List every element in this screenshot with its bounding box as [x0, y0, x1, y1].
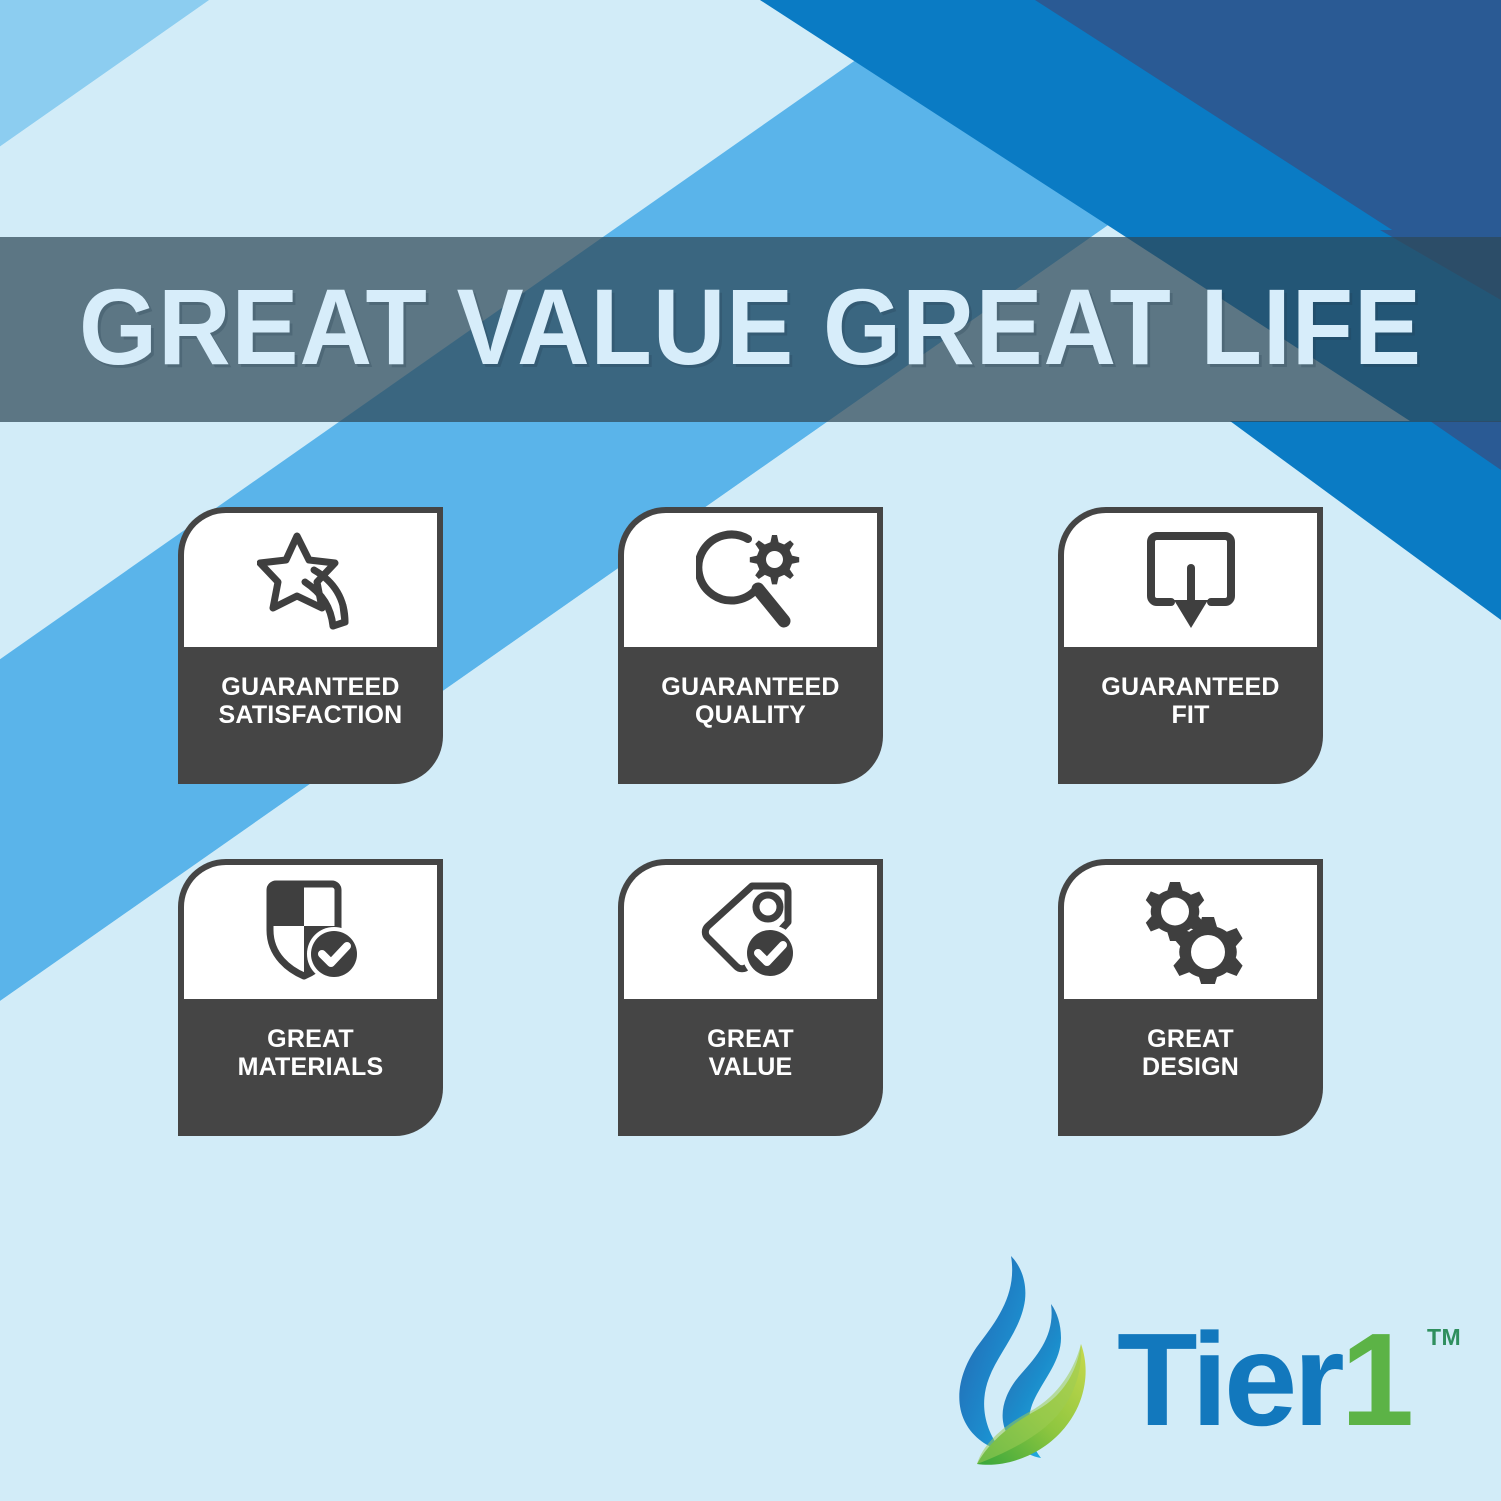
page-title: GREAT VALUE GREAT LIFE	[53, 273, 1449, 387]
card-label-line2: FIT	[1171, 701, 1209, 729]
feature-card-great-design[interactable]: GREAT DESIGN	[1058, 859, 1323, 1136]
flame-leaf-icon	[955, 1252, 1115, 1482]
logo-word-tier: Tier	[1117, 1306, 1341, 1453]
logo-word-one: 1	[1341, 1306, 1410, 1453]
card-label-line1: GUARANTEED	[1101, 673, 1279, 701]
feature-card-great-value[interactable]: GREAT VALUE	[618, 859, 883, 1136]
card-label-line2: DESIGN	[1142, 1053, 1239, 1081]
magnifier-gear-icon	[696, 529, 806, 631]
card-label: GUARANTEED QUALITY	[624, 647, 877, 784]
trademark-symbol: TM	[1427, 1324, 1461, 1351]
feature-card-row-2: GREAT MATERIALS	[178, 859, 1335, 1136]
headline-banner: GREAT VALUE GREAT LIFE	[0, 237, 1501, 422]
card-label-line1: GREAT	[707, 1025, 794, 1053]
card-label: GREAT DESIGN	[1064, 999, 1317, 1136]
card-icon-area	[1064, 865, 1317, 999]
card-label-line2: QUALITY	[695, 701, 806, 729]
shooting-star-icon	[257, 530, 365, 630]
feature-card-guaranteed-fit[interactable]: GUARANTEED FIT	[1058, 507, 1323, 784]
two-gears-icon	[1136, 880, 1246, 984]
tier1-logo[interactable]: Tier1 TM	[955, 1252, 1455, 1487]
card-label-line2: SATISFACTION	[219, 701, 403, 729]
card-icon-area	[624, 513, 877, 647]
arrow-into-box-icon	[1143, 528, 1239, 632]
feature-card-row-1: GUARANTEED SATISFACTION	[178, 507, 1335, 784]
logo-wordmark: Tier1	[1117, 1314, 1410, 1446]
shield-check-icon	[258, 880, 364, 984]
card-icon-area	[1064, 513, 1317, 647]
card-label: GUARANTEED FIT	[1064, 647, 1317, 784]
feature-card-great-materials[interactable]: GREAT MATERIALS	[178, 859, 443, 1136]
price-tag-check-icon	[696, 880, 806, 984]
card-icon-area	[184, 865, 437, 999]
card-label-line2: MATERIALS	[238, 1053, 384, 1081]
feature-card-grid: GUARANTEED SATISFACTION	[178, 507, 1335, 1211]
card-label: GREAT VALUE	[624, 999, 877, 1136]
feature-card-guaranteed-satisfaction[interactable]: GUARANTEED SATISFACTION	[178, 507, 443, 784]
poster-canvas: GREAT VALUE GREAT LIFE	[0, 0, 1501, 1501]
card-label: GUARANTEED SATISFACTION	[184, 647, 437, 784]
card-label-line1: GREAT	[1147, 1025, 1234, 1053]
card-icon-area	[624, 865, 877, 999]
card-label-line2: VALUE	[709, 1053, 793, 1081]
card-label-line1: GUARANTEED	[221, 673, 399, 701]
feature-card-guaranteed-quality[interactable]: GUARANTEED QUALITY	[618, 507, 883, 784]
card-label-line1: GREAT	[267, 1025, 354, 1053]
card-label: GREAT MATERIALS	[184, 999, 437, 1136]
card-label-line1: GUARANTEED	[661, 673, 839, 701]
card-icon-area	[184, 513, 437, 647]
